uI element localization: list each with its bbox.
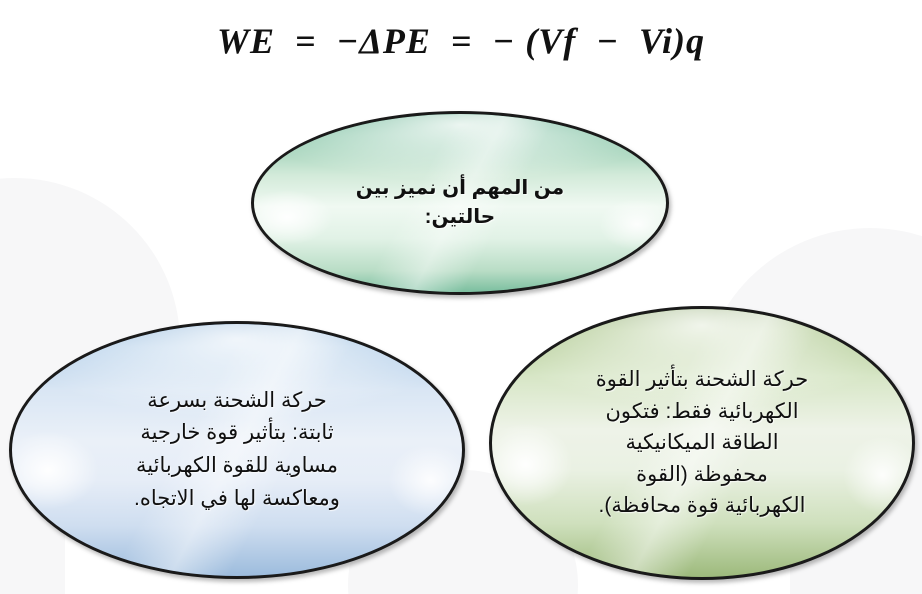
ellipse-case-constant-velocity: حركة الشحنة بسرعة ثابتة: بتأثير قوة خارج…	[9, 321, 465, 579]
slide-canvas: WE = −ΔPE = − (Vf − Vi)q من المهم أن نمي…	[0, 0, 922, 594]
ellipse-case-electric-force-only: حركة الشحنة بتأثير القوة الكهربائية فقط:…	[489, 306, 915, 580]
ellipse-intro: من المهم أن نميز بين حالتين:	[251, 111, 669, 295]
ellipse-intro-text: من المهم أن نميز بين حالتين:	[335, 174, 585, 232]
ellipse-case-electric-force-only-text: حركة الشحنة بتأثير القوة الكهربائية فقط:…	[542, 364, 862, 522]
physics-formula: WE = −ΔPE = − (Vf − Vi)q	[0, 20, 922, 62]
ellipse-case-constant-velocity-text: حركة الشحنة بسرعة ثابتة: بتأثير قوة خارج…	[87, 385, 387, 515]
